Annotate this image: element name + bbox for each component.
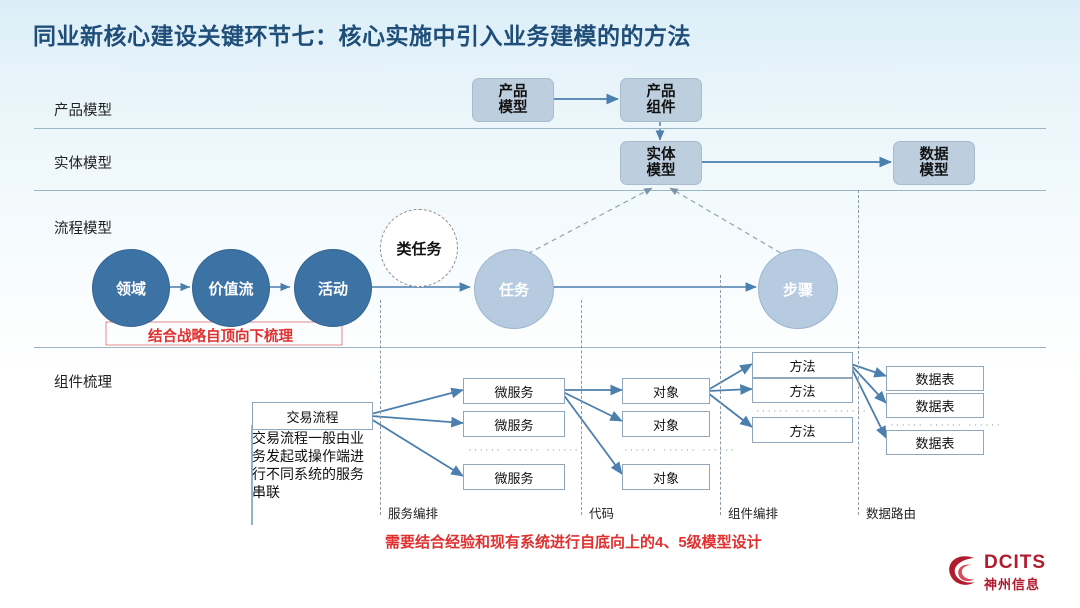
box-method-2[interactable]: 方法 (752, 378, 853, 403)
box-datatable-2-label: 数据表 (915, 396, 954, 415)
box-datatable-2[interactable]: 数据表 (886, 393, 984, 418)
circle-step-label: 步骤 (783, 279, 813, 300)
box-microservice-2[interactable]: 微服务 (463, 411, 565, 437)
box-transaction-flow[interactable]: 交易流程 (252, 402, 373, 430)
column-divider-code (581, 300, 582, 515)
box-object-1-label: 对象 (653, 382, 679, 401)
column-label-service: 服务编排 (388, 503, 438, 522)
box-object-2[interactable]: 对象 (622, 411, 710, 437)
box-method-1[interactable]: 方法 (752, 352, 853, 378)
box-microservice-2-label: 微服务 (494, 415, 533, 434)
company-logo: DCITS 神州信息 (944, 550, 1062, 598)
circle-value-stream-label: 价值流 (208, 278, 253, 299)
note-bottom-up: 需要结合经验和现有系统进行自底向上的4、5级模型设计 (385, 531, 762, 552)
column-label-code: 代码 (589, 503, 614, 522)
page-title: 同业新核心建设关键环节七：核心实施中引入业务建模的的方法 (33, 17, 691, 51)
box-method-1-label: 方法 (789, 356, 815, 375)
title-bar: 同业新核心建设关键环节七：核心实施中引入业务建模的的方法 (0, 0, 1080, 62)
circle-step[interactable]: 步骤 (758, 249, 838, 329)
box-data-model-label: 数据 模型 (920, 147, 949, 179)
box-microservice-3-label: 微服务 (494, 468, 533, 487)
circle-value-stream[interactable]: 价值流 (192, 249, 270, 327)
circle-activity-label: 活动 (318, 278, 348, 299)
lane-divider-2 (34, 190, 1046, 191)
column-divider-service (380, 300, 381, 515)
box-product-component-label: 产品 组件 (647, 84, 676, 116)
box-data-model[interactable]: 数据 模型 (893, 141, 975, 185)
lane-divider-1 (34, 128, 1046, 129)
box-datatable-1[interactable]: 数据表 (886, 366, 984, 391)
box-entity-model[interactable]: 实体 模型 (620, 141, 702, 185)
lane-label-component: 组件梳理 (54, 371, 112, 392)
circle-task-label: 任务 (499, 279, 529, 300)
note-top-down: 结合战略自顶向下梳理 (148, 325, 293, 346)
box-product-model[interactable]: 产品 模型 (472, 78, 554, 122)
circle-task-class[interactable]: 类任务 (380, 209, 458, 287)
box-object-2-label: 对象 (653, 415, 679, 434)
box-datatable-3[interactable]: 数据表 (886, 430, 984, 455)
column-label-data: 数据路由 (866, 503, 916, 522)
circle-task-class-label: 类任务 (396, 238, 441, 259)
box-object-3-label: 对象 (653, 468, 679, 487)
ellipsis-method: ······ ······ ······ (756, 405, 868, 417)
circle-domain-label: 领域 (116, 278, 146, 299)
box-transaction-flow-label: 交易流程 (286, 407, 338, 426)
lane-label-product-model: 产品模型 (54, 99, 112, 120)
ellipsis-object: ······ ······ ······ (624, 444, 736, 456)
box-datatable-3-label: 数据表 (915, 433, 954, 452)
column-divider-data (858, 190, 859, 515)
slide-canvas: 同业新核心建设关键环节七：核心实施中引入业务建模的的方法 产品模型 实体模型 流… (0, 0, 1080, 608)
box-method-2-label: 方法 (789, 381, 815, 400)
lane-label-process-model: 流程模型 (54, 217, 112, 238)
box-method-3-label: 方法 (789, 421, 815, 440)
lane-label-entity-model: 实体模型 (54, 152, 112, 173)
box-microservice-1-label: 微服务 (494, 382, 533, 401)
circle-activity[interactable]: 活动 (294, 249, 372, 327)
box-product-component[interactable]: 产品 组件 (620, 78, 702, 122)
logo-brand: DCITS (984, 552, 1046, 574)
column-divider-component (720, 275, 721, 515)
box-product-model-label: 产品 模型 (499, 84, 528, 116)
circle-task[interactable]: 任务 (474, 249, 554, 329)
box-object-1[interactable]: 对象 (622, 378, 710, 404)
box-datatable-1-label: 数据表 (915, 369, 954, 388)
box-microservice-1[interactable]: 微服务 (463, 378, 565, 404)
logo-brand-cn: 神州信息 (984, 574, 1040, 593)
column-label-component: 组件编排 (728, 503, 778, 522)
circle-domain[interactable]: 领域 (92, 249, 170, 327)
box-entity-model-label: 实体 模型 (647, 147, 676, 179)
box-object-3[interactable]: 对象 (622, 464, 710, 490)
transaction-flow-description: 交易流程一般由业务发起或操作端进行不同系统的服务串联 (252, 430, 364, 502)
ellipsis-microservice: ······ ······ ······ (468, 444, 580, 456)
box-microservice-3[interactable]: 微服务 (463, 464, 565, 490)
lane-divider-3 (34, 347, 1046, 348)
box-method-3[interactable]: 方法 (752, 417, 853, 443)
dcits-mark-icon (944, 550, 982, 594)
